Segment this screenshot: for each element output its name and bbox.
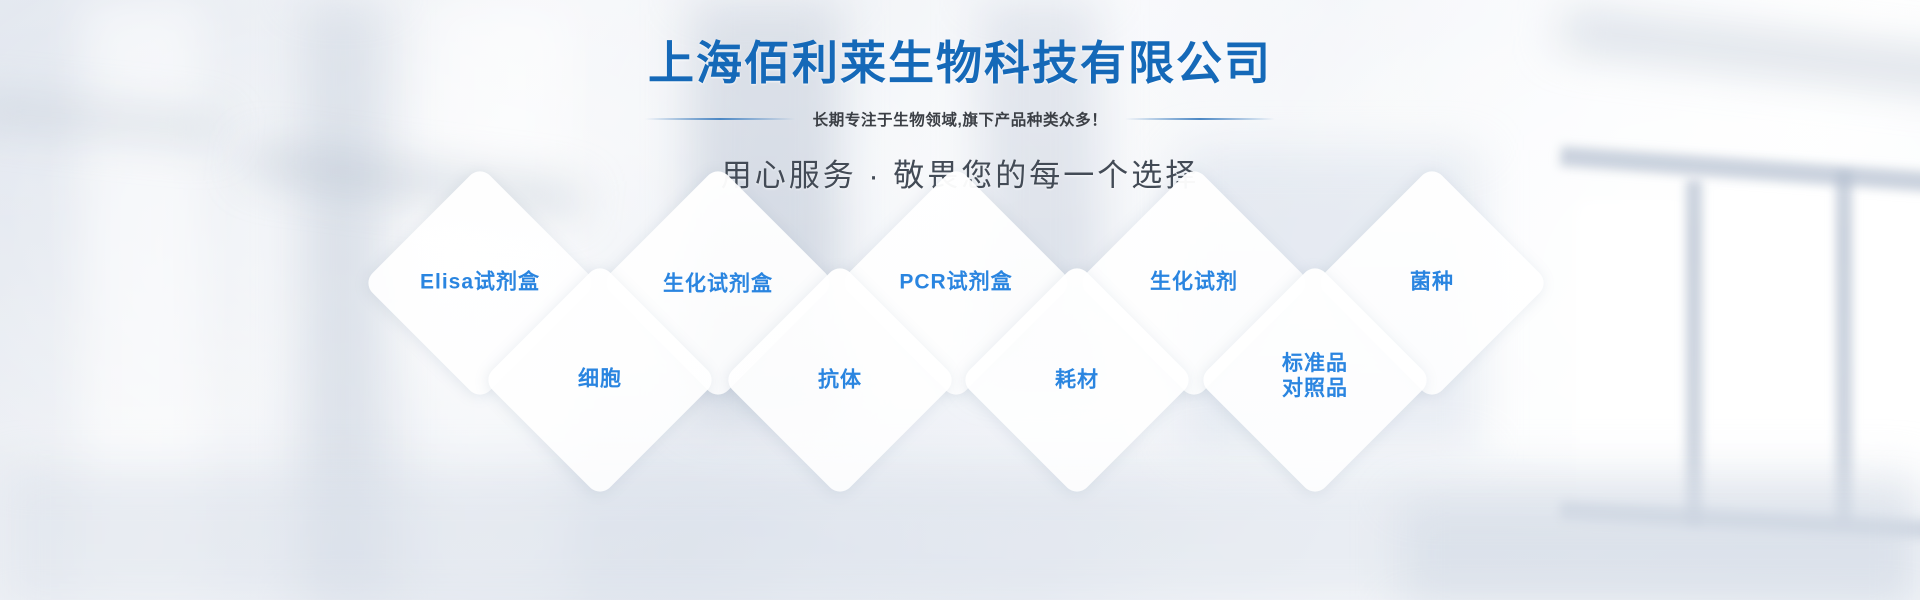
- category-label-antibody[interactable]: 抗体: [818, 369, 862, 394]
- category-label-biochem[interactable]: 生化试剂: [1150, 271, 1238, 296]
- category-label-standard[interactable]: 标准品 对照品: [1255, 352, 1375, 402]
- category-label-biochem-kit[interactable]: 生化试剂盒: [663, 273, 773, 298]
- category-label-elisa[interactable]: Elisa试剂盒: [420, 271, 540, 296]
- category-label-standard-line2: 对照品: [1255, 377, 1375, 402]
- category-label-pcr[interactable]: PCR试剂盒: [899, 271, 1012, 296]
- category-label-standard-line1: 标准品: [1255, 352, 1375, 377]
- category-label-strain[interactable]: 菌种: [1410, 271, 1454, 296]
- category-label-cell[interactable]: 细胞: [578, 368, 622, 393]
- category-diamond-grid: Elisa试剂盒 生化试剂盒 PCR试剂盒 生化试剂 菌种 细胞 抗体 耗材 标…: [0, 0, 1920, 600]
- hero-banner: 上海佰利莱生物科技有限公司 长期专注于生物领域,旗下产品种类众多！ 用心服务 ·…: [0, 0, 1920, 600]
- category-label-consumable[interactable]: 耗材: [1055, 369, 1099, 394]
